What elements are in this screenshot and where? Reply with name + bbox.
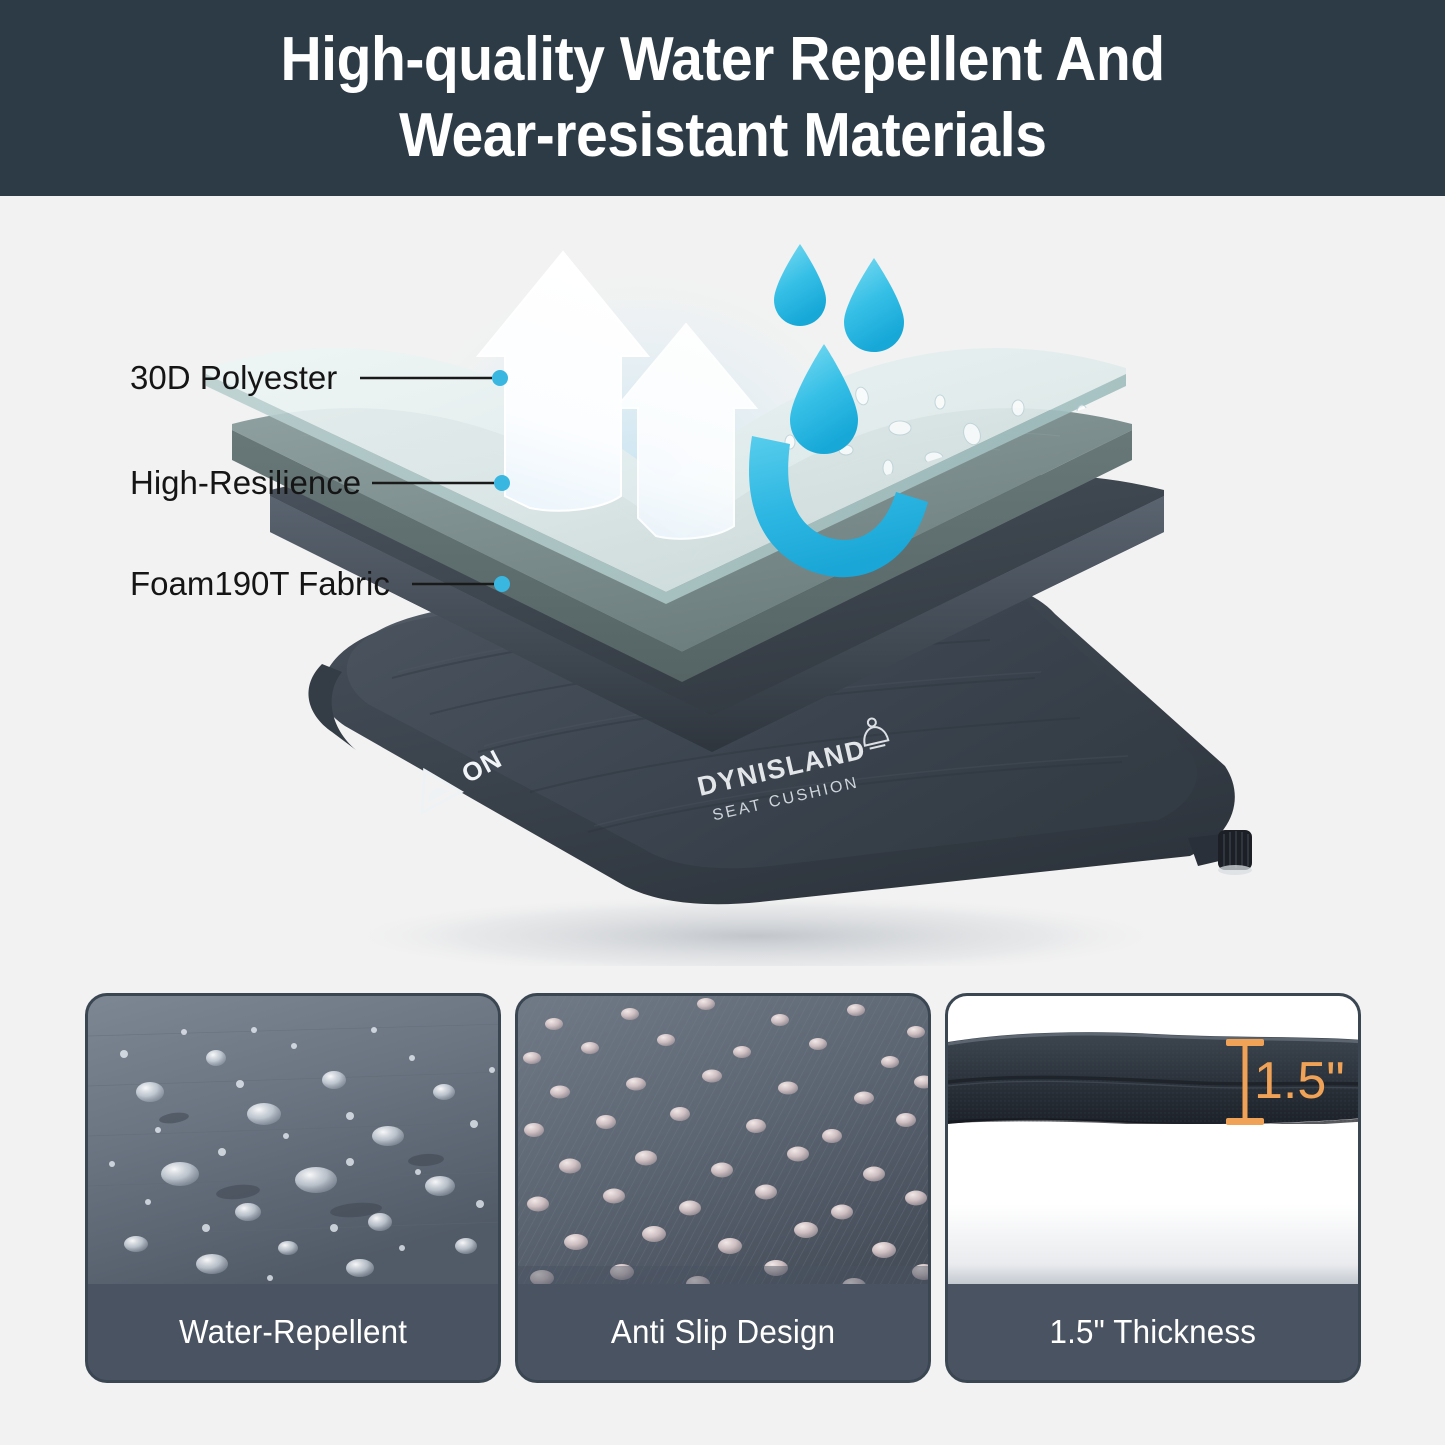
cushion-side-profile-photo: 1.5" xyxy=(948,996,1358,1290)
thickness-dimension-label: 1.5" xyxy=(1254,1052,1345,1110)
feature-panel-thickness: 1.5" 1.5" Thickness xyxy=(945,993,1361,1383)
header-banner: High-quality Water Repellent And Wear-re… xyxy=(0,0,1445,196)
hero-exploded-diagram: DYNISLAND SEAT CUSHION ON xyxy=(0,196,1445,966)
feature-panel-anti-slip: Anti Slip Design xyxy=(515,993,931,1383)
anti-slip-dots-photo xyxy=(518,996,928,1290)
panel-caption-text: Anti Slip Design xyxy=(611,1313,835,1351)
panel-caption-text: Water-Repellent xyxy=(179,1313,407,1351)
infographic-page: High-quality Water Repellent And Wear-re… xyxy=(0,0,1445,1445)
callout-label-30d-polyester: 30D Polyester xyxy=(130,361,337,394)
panel-caption-water-repellent: Water-Repellent xyxy=(88,1284,498,1380)
feature-panel-row: Water-Repellent xyxy=(0,966,1445,1445)
feature-panel-water-repellent: Water-Repellent xyxy=(85,993,501,1383)
callout-label-foam190t-fabric: Foam190T Fabric xyxy=(130,567,390,600)
panel-caption-text: 1.5" Thickness xyxy=(1050,1313,1257,1351)
callout-label-high-resilience: High-Resilience xyxy=(130,466,361,499)
panel-caption-thickness: 1.5" Thickness xyxy=(948,1284,1358,1380)
header-title-line-1: High-quality Water Repellent And xyxy=(280,22,1164,98)
panel-caption-anti-slip: Anti Slip Design xyxy=(518,1284,928,1380)
header-title-line-2: Wear-resistant Materials xyxy=(399,98,1046,174)
water-beading-photo xyxy=(88,996,498,1290)
